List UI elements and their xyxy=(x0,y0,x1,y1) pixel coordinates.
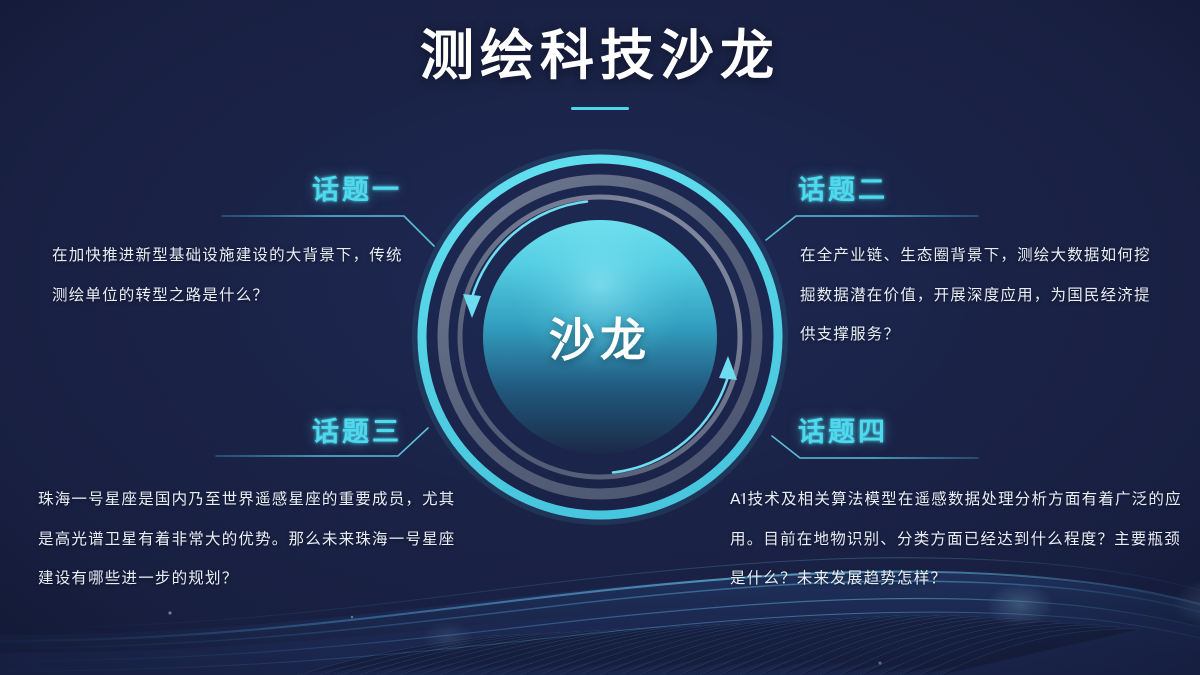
topic-label-2: 话题二 xyxy=(798,168,888,207)
topic-text-3: 珠海一号星座是国内乃至世界遥感星座的重要成员，尤其是高光谱卫星有着非常大的优势。… xyxy=(38,480,468,599)
title-underline xyxy=(571,107,629,110)
topic-label-3: 话题三 xyxy=(312,410,402,449)
slide-canvas: 沙龙 测绘科技沙龙 话题一 在加快推进新型基础设施建设的大背景下，传统测绘单位的… xyxy=(0,0,1200,675)
topic-label-4: 话题四 xyxy=(798,410,888,449)
title-block: 测绘科技沙龙 xyxy=(0,26,1200,110)
topic-text-1: 在加快推进新型基础设施建设的大背景下，传统测绘单位的转型之路是什么？ xyxy=(52,236,404,315)
topic-text-4: AI技术及相关算法模型在遥感数据处理分析方面有着广泛的应用。目前在地物识别、分类… xyxy=(730,480,1186,599)
topic-label-1: 话题一 xyxy=(312,168,402,207)
topic-text-2: 在全产业链、生态圈背景下，测绘大数据如何挖掘数据潜在价值，开展深度应用，为国民经… xyxy=(800,236,1158,355)
page-title: 测绘科技沙龙 xyxy=(420,26,780,85)
center-emblem: 沙龙 xyxy=(411,148,789,526)
